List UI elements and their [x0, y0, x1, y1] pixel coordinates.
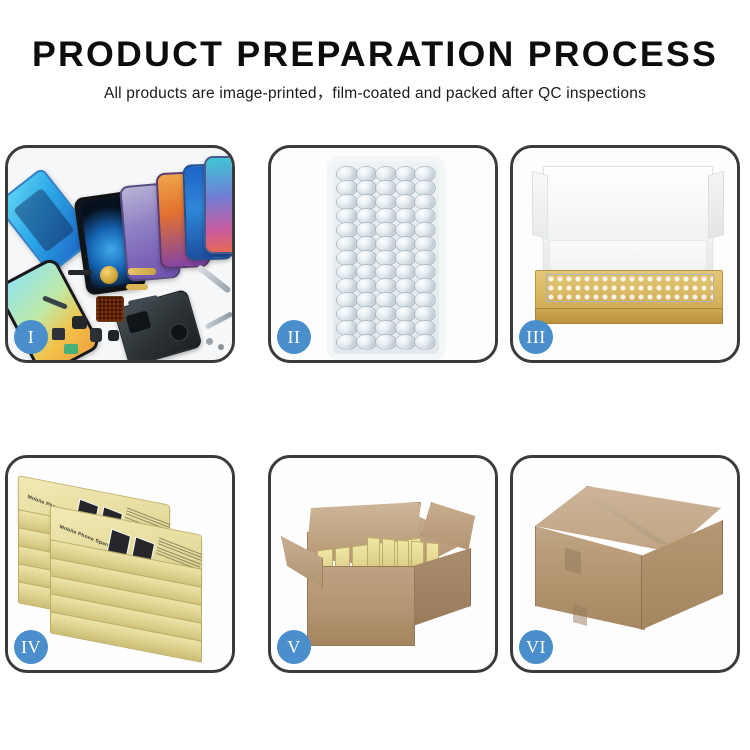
copper-grid-part-icon: [96, 296, 124, 322]
process-steps-grid: I II III: [5, 145, 745, 675]
step-panel-6: VI: [510, 455, 740, 673]
step-panel-4: Mobile Phone Spare Parts: [5, 455, 235, 673]
bubble: [375, 334, 397, 350]
carton-tape-tab-1-icon: [565, 548, 581, 575]
step-badge-1: I: [14, 320, 48, 354]
step-badge-6: VI: [519, 630, 553, 664]
step-badge-3: III: [519, 320, 553, 354]
bubble-wrapped-contents-icon: [546, 274, 714, 302]
step-panel-1: I: [5, 145, 235, 363]
step-badge-2: II: [277, 320, 311, 354]
bubble-grid: [337, 167, 435, 349]
speaker-bar-part-icon: [68, 270, 92, 275]
step-badge-4: IV: [14, 630, 48, 664]
screw-icon: [206, 338, 213, 345]
coil-part-icon: [100, 266, 118, 284]
header: PRODUCT PREPARATION PROCESS All products…: [0, 0, 750, 103]
page-title: PRODUCT PREPARATION PROCESS: [0, 0, 750, 74]
step-panel-5: V: [268, 455, 498, 673]
step-panel-3: III: [510, 145, 740, 363]
connector-part-icon: [52, 328, 65, 340]
phone-gradient-icon: [204, 156, 232, 254]
tray-front-panel-icon: [535, 308, 723, 324]
carton-front-wall-icon: [307, 566, 415, 646]
screw-2-icon: [218, 344, 224, 350]
flex-cable-part-icon: [128, 268, 156, 275]
carton-tape-tab-2-icon: [573, 604, 587, 626]
bubble: [356, 334, 378, 350]
bubble-wrap-pouch-icon: [333, 162, 439, 354]
bubble: [336, 334, 358, 350]
bubble: [414, 334, 436, 350]
battery-part-icon: [64, 344, 78, 354]
camera-module-3-icon: [108, 330, 119, 341]
product-preparation-infographic: PRODUCT PREPARATION PROCESS All products…: [0, 0, 750, 750]
flex-cable-small-icon: [126, 284, 148, 290]
page-subtitle: All products are image-printed，film-coat…: [0, 74, 750, 103]
step-panel-2: II: [268, 145, 498, 363]
bubble: [395, 334, 417, 350]
camera-module-2-icon: [90, 328, 102, 342]
step-badge-5: V: [277, 630, 311, 664]
camera-module-icon: [72, 316, 87, 329]
